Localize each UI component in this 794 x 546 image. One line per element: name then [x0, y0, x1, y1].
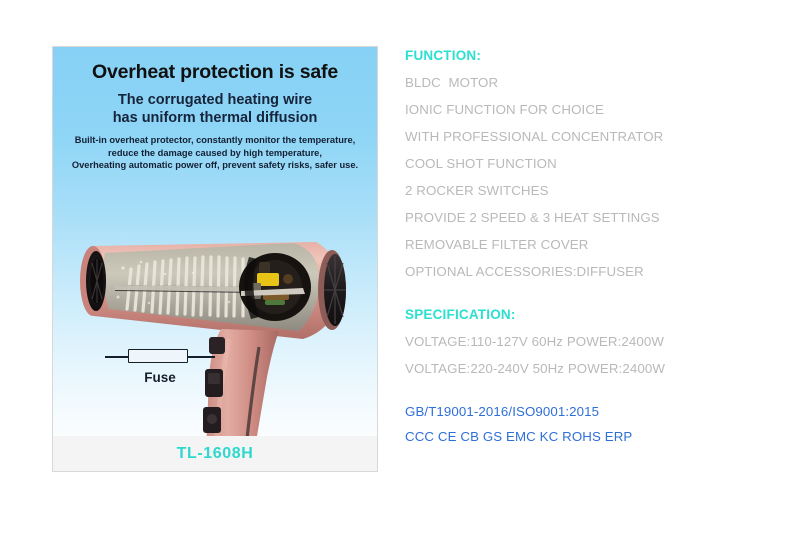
fuse-body-rect: [128, 349, 188, 363]
certification-item: GB/T19001-2016/ISO9001:2015: [405, 402, 765, 427]
function-list: BLDC MOTOR IONIC FUNCTION FOR CHOICE WIT…: [405, 73, 765, 289]
specification-heading: SPECIFICATION:: [405, 305, 765, 332]
fuse-diagram: Fuse: [101, 345, 219, 385]
function-item: REMOVABLE FILTER COVER: [405, 235, 765, 262]
panel-description-line3: Overheating automatic power off, prevent…: [53, 159, 377, 172]
model-number: TL-1608H: [177, 445, 254, 463]
function-item: COOL SHOT FUNCTION: [405, 154, 765, 181]
panel-footer: TL-1608H: [53, 436, 377, 471]
panel-headline: Overheat protection is safe: [53, 61, 377, 84]
specification-list: VOLTAGE:110-127V 60Hz POWER:2400W VOLTAG…: [405, 332, 765, 386]
panel-description-line1: Built-in overheat protector, constantly …: [53, 134, 377, 147]
spacer: [405, 289, 765, 305]
fuse-symbol-icon: [101, 345, 219, 367]
panel-subheadline: The corrugated heating wire has uniform …: [53, 91, 377, 127]
panel-subheadline-line1: The corrugated heating wire: [53, 91, 377, 109]
specification-item: VOLTAGE:220-240V 50Hz POWER:2400W: [405, 359, 765, 386]
function-item: IONIC FUNCTION FOR CHOICE: [405, 100, 765, 127]
function-item: BLDC MOTOR: [405, 73, 765, 100]
panel-description-line2: reduce the damage caused by high tempera…: [53, 147, 377, 160]
function-item: PROVIDE 2 SPEED & 3 HEAT SETTINGS: [405, 208, 765, 235]
function-item: WITH PROFESSIONAL CONCENTRATOR: [405, 127, 765, 154]
panel-subheadline-line2: has uniform thermal diffusion: [53, 109, 377, 127]
fuse-label: Fuse: [101, 370, 219, 385]
panel-description: Built-in overheat protector, constantly …: [53, 134, 377, 172]
spacer: [405, 386, 765, 402]
product-image-panel: Overheat protection is safe The corrugat…: [52, 46, 378, 472]
certification-item: CCC CE CB GS EMC KC ROHS ERP: [405, 427, 765, 452]
function-item: 2 ROCKER SWITCHES: [405, 181, 765, 208]
specification-item: VOLTAGE:110-127V 60Hz POWER:2400W: [405, 332, 765, 359]
function-item: OPTIONAL ACCESSORIES:DIFFUSER: [405, 262, 765, 289]
certification-list: GB/T19001-2016/ISO9001:2015 CCC CE CB GS…: [405, 402, 765, 452]
function-heading: FUNCTION:: [405, 46, 765, 73]
specification-column: FUNCTION: BLDC MOTOR IONIC FUNCTION FOR …: [405, 46, 765, 452]
